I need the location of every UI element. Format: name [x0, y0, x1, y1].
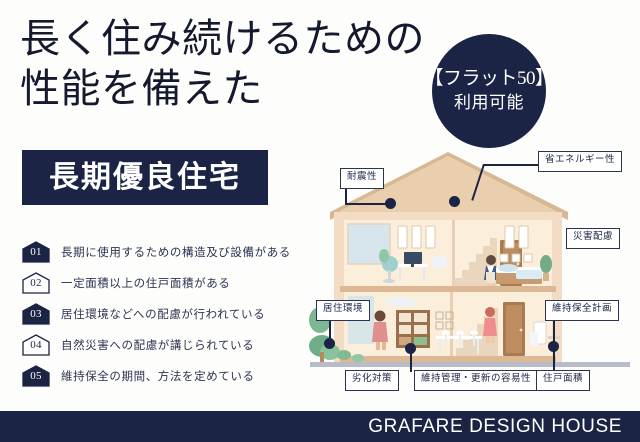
footer-bar: GRAFARE DESIGN HOUSE — [0, 411, 640, 442]
list-item: 01 長期に使用するための構造及び設備がある — [22, 236, 312, 267]
flat50-badge-line-1: 【フラット50】 — [425, 68, 554, 90]
criteria-text: 一定面積以上の住戸面積がある — [61, 275, 230, 291]
house-badge-icon: 04 — [22, 334, 50, 356]
criteria-text: 自然災害への配慮が講じられている — [61, 337, 254, 353]
callout-environment: 居住環境 — [316, 300, 370, 321]
house-badge-icon: 02 — [22, 272, 50, 294]
leader-line-maintenance-plan — [553, 319, 555, 343]
criteria-number: 03 — [30, 309, 42, 325]
poster-root: 長く住み続けるための 性能を備えた 長期優良住宅 【フラット50】 利用可能 0… — [0, 0, 640, 442]
certification-banner: 長期優良住宅 — [22, 150, 268, 205]
criteria-number: 05 — [30, 371, 42, 387]
callout-maintenance-ease: 維持管理・更新の容易性 — [414, 370, 538, 391]
list-item: 02 一定面積以上の住戸面積がある — [22, 267, 312, 298]
criteria-list: 01 長期に使用するための構造及び設備がある 02 一定面積以上の住戸面積がある… — [22, 236, 312, 391]
criteria-number: 04 — [30, 340, 42, 356]
criteria-number: 01 — [30, 247, 42, 263]
marker-dot-environment — [324, 338, 335, 349]
criteria-text: 居住環境などへの配慮が行われている — [61, 306, 265, 322]
list-item: 05 維持保全の期間、方法を定めている — [22, 360, 312, 391]
criteria-text: 長期に使用するための構造及び設備がある — [61, 244, 291, 260]
house-badge-icon: 05 — [22, 365, 50, 387]
leader-line-seismic-2 — [345, 203, 389, 205]
brand-name: GRAFARE DESIGN HOUSE — [368, 417, 622, 436]
callout-maintenance-plan: 維持保全計画 — [545, 300, 619, 321]
headline-line-1: 長く住み続けるための — [20, 16, 425, 61]
callout-seismic: 耐震性 — [340, 168, 384, 189]
list-item: 03 居住環境などへの配慮が行われている — [22, 298, 312, 329]
house-badge-icon: 03 — [22, 303, 50, 325]
leader-line-seismic — [345, 188, 347, 204]
marker-dot-floor-area — [548, 341, 559, 352]
criteria-number: 02 — [30, 278, 42, 294]
callout-energy: 省エネルギー性 — [538, 151, 622, 172]
certification-banner-label: 長期優良住宅 — [49, 163, 241, 193]
headline-line-2: 性能を備えた — [20, 64, 440, 114]
list-item: 04 自然災害への配慮が講じられている — [22, 329, 312, 360]
marker-dot-degradation — [405, 343, 416, 354]
criteria-text: 維持保全の期間、方法を定めている — [61, 368, 255, 384]
marker-dot-energy — [449, 196, 460, 207]
flat50-badge: 【フラット50】 利用可能 — [432, 34, 546, 148]
callout-floor-area: 住戸面積 — [536, 370, 590, 391]
marker-dot-seismic — [385, 198, 396, 209]
page-title: 長く住み続けるための 性能を備えた — [20, 14, 440, 113]
callout-degradation: 劣化対策 — [345, 370, 399, 391]
leader-line-energy — [483, 164, 539, 166]
house-badge-icon: 01 — [22, 241, 50, 263]
flat50-badge-line-2: 利用可能 — [454, 92, 524, 114]
callout-disaster: 災害配慮 — [566, 228, 620, 249]
